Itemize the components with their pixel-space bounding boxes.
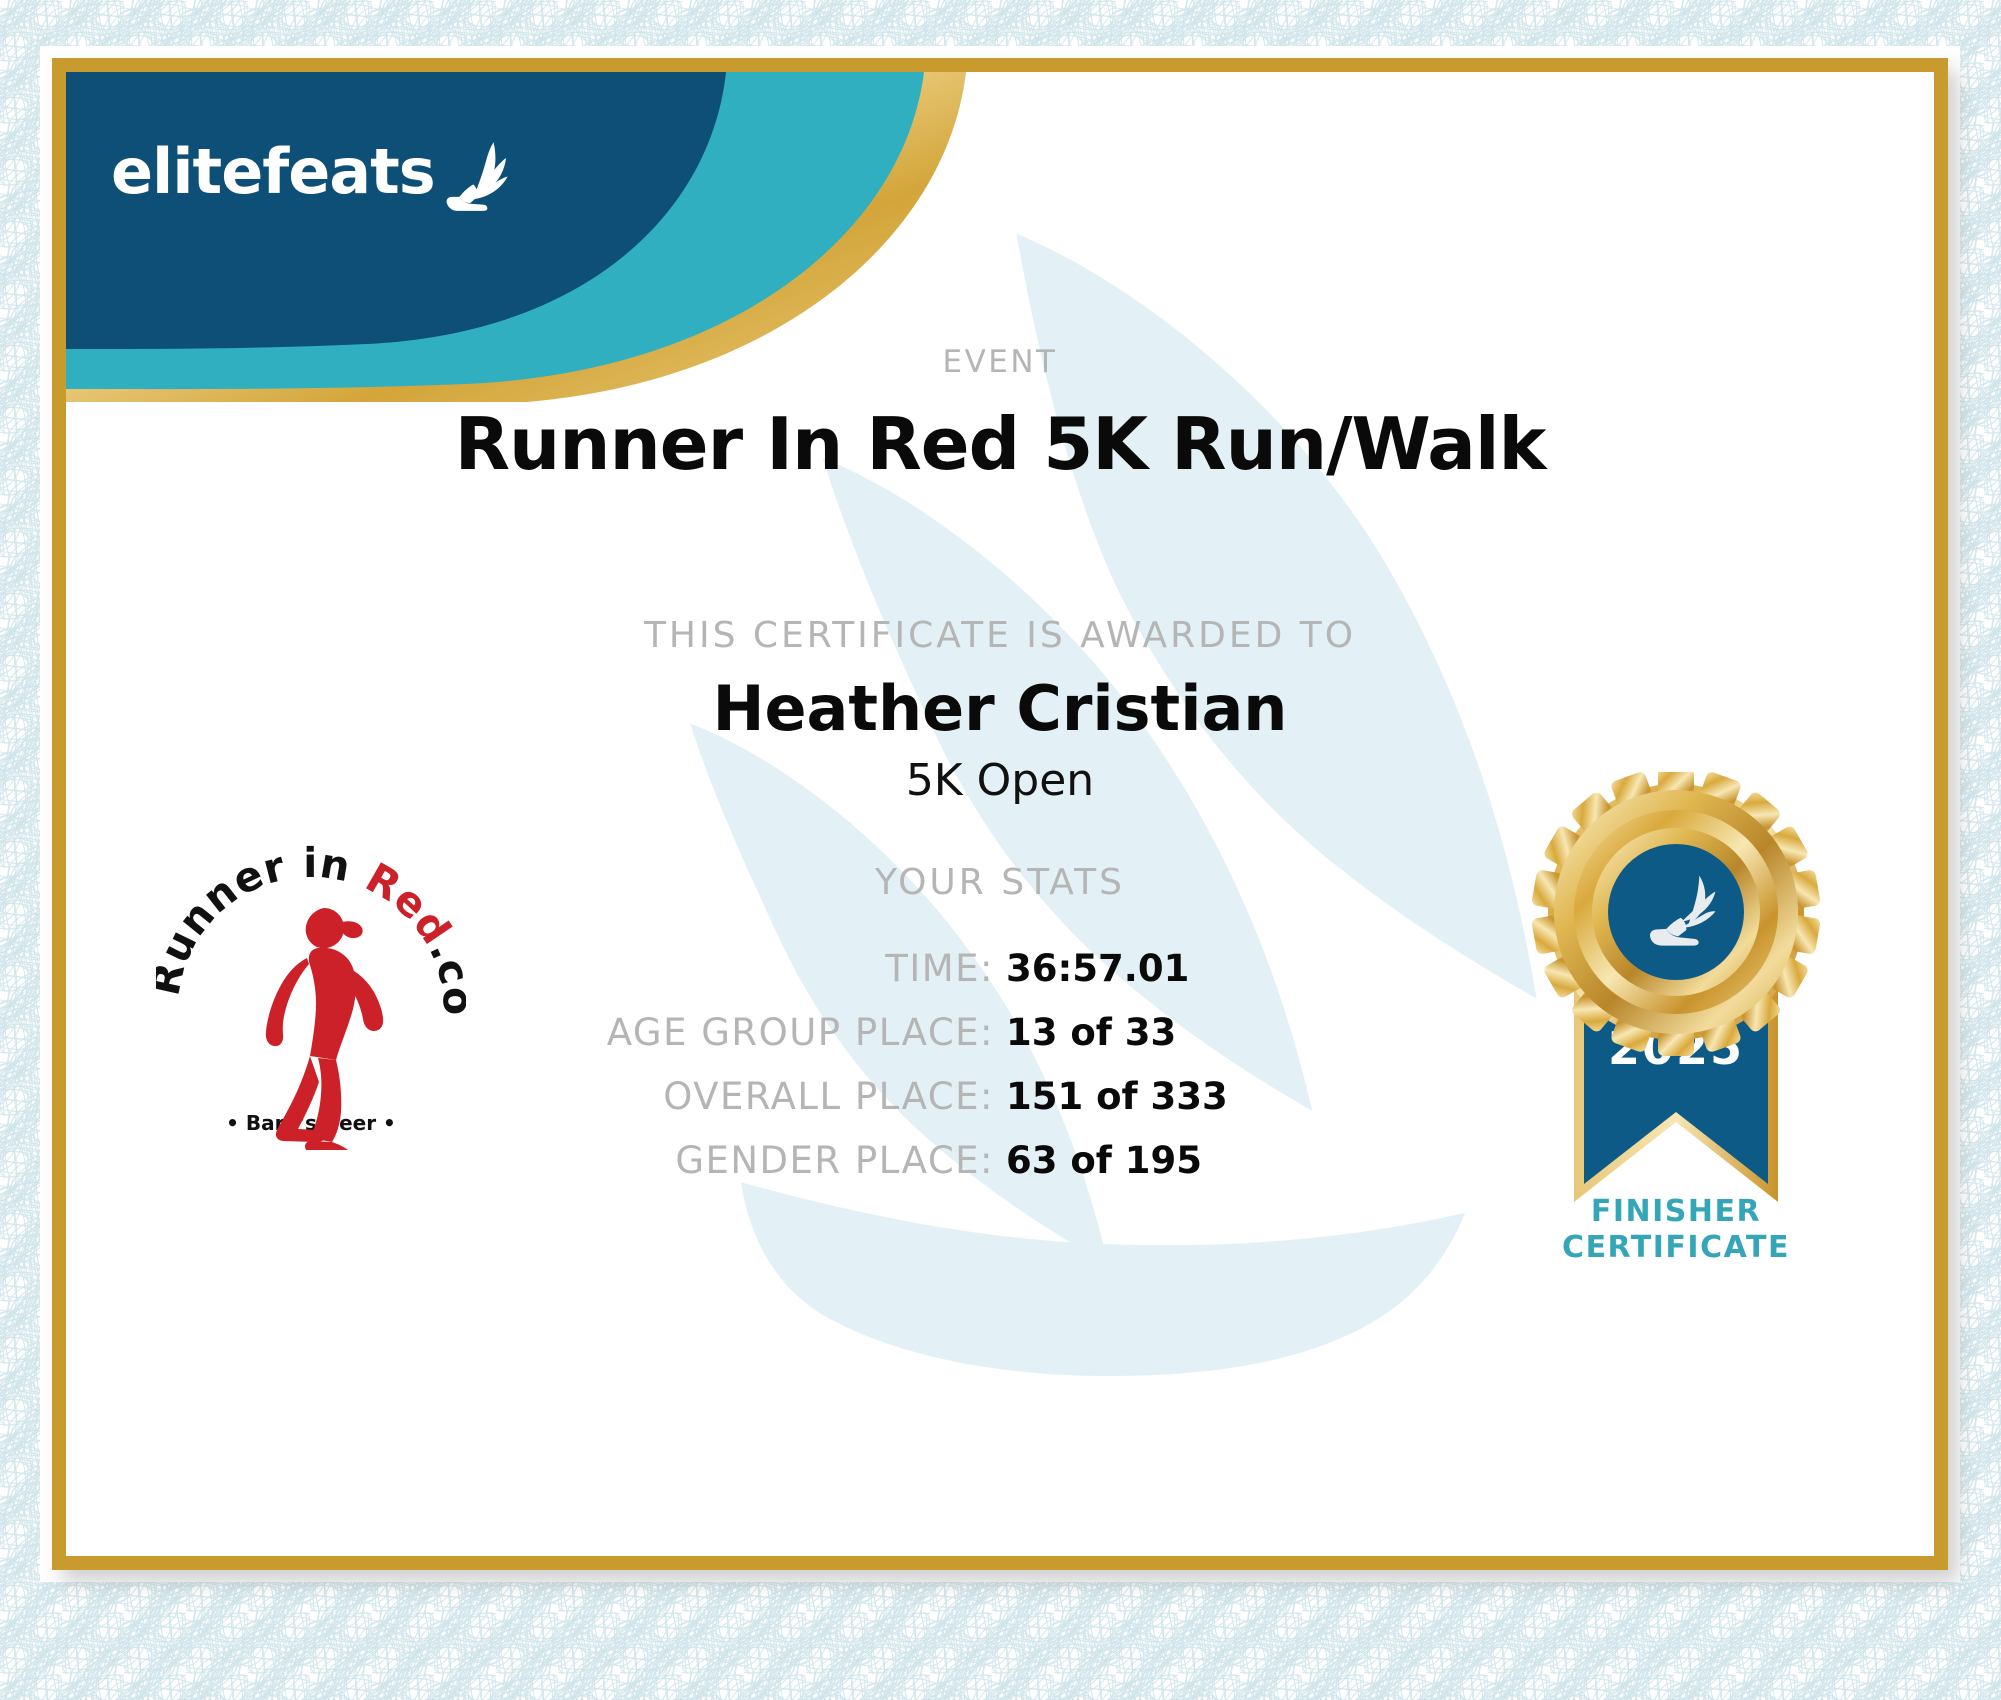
badge-caption: FINISHER CERTIFICATE (1496, 1194, 1856, 1266)
runner-in-red-logo: Runner in Red.com • Barb's Beer • (156, 842, 466, 1152)
badge-medal (1531, 772, 1821, 1056)
stat-label-gender-place: GENDER PLACE: (474, 1139, 1006, 1182)
stat-label-overall-place: OVERALL PLACE: (474, 1075, 1006, 1118)
stat-value-time: 36:57.01 (1006, 947, 1526, 990)
stat-value-overall-place: 151 of 333 (1006, 1075, 1526, 1118)
stat-value-gender-place: 63 of 195 (1006, 1139, 1526, 1182)
badge-caption-line-2: CERTIFICATE (1496, 1230, 1856, 1266)
brand-wordmark: elitefeats (111, 141, 435, 203)
awarded-to-label: THIS CERTIFICATE IS AWARDED TO (66, 615, 1934, 656)
stat-label-age-group-place: AGE GROUP PLACE: (474, 1011, 1006, 1054)
certificate-frame: elitefeats EVENT Runner In Red 5K Run/Wa… (52, 58, 1948, 1570)
stat-value-age-group-place: 13 of 33 (1006, 1011, 1526, 1054)
winged-foot-icon (439, 136, 517, 214)
event-label: EVENT (66, 344, 1934, 380)
stat-label-time: TIME: (474, 947, 1006, 990)
certificate-inner: elitefeats EVENT Runner In Red 5K Run/Wa… (66, 72, 1934, 1556)
brand-logo: elitefeats (111, 130, 517, 214)
event-title: Runner In Red 5K Run/Walk (66, 402, 1934, 486)
badge-caption-line-1: FINISHER (1496, 1194, 1856, 1230)
recipient-name: Heather Cristian (66, 672, 1934, 745)
